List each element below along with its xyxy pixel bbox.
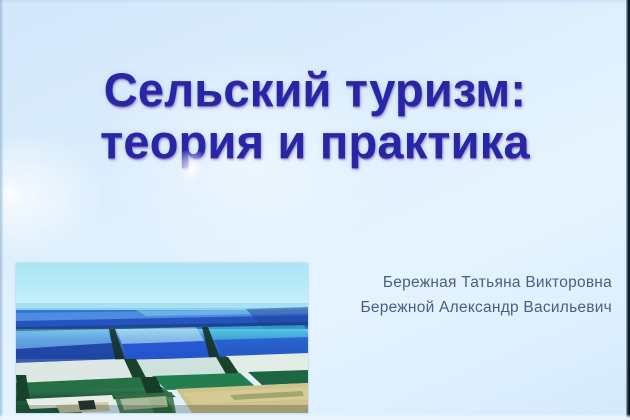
screen-top-edge — [0, 0, 630, 4]
screen-bottom-edge — [0, 414, 630, 420]
title-line-1: Сельский туризм: — [0, 66, 630, 114]
slide-title: Сельский туризм: теория и практика — [0, 66, 630, 166]
farmland-aerial-photo — [16, 263, 308, 413]
screen-left-edge — [0, 0, 3, 420]
farmland-illustration — [16, 263, 308, 413]
title-line-2: теория и практика — [0, 118, 630, 166]
author-line-2: Бережной Александр Васильевич — [282, 295, 612, 320]
author-line-1: Бережная Татьяна Викторовна — [282, 270, 612, 295]
screen-right-edge — [626, 0, 630, 420]
projected-slide-photo: Сельский туризм: теория и практика — [0, 0, 630, 420]
author-names: Бережная Татьяна Викторовна Бережной Але… — [282, 270, 612, 320]
